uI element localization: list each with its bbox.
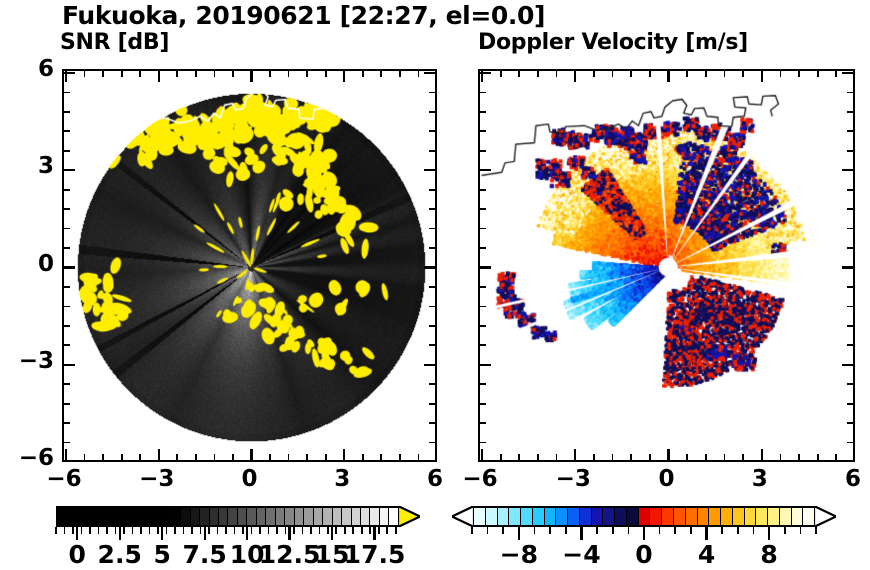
colorbar-tick-minor	[276, 527, 278, 534]
y-tick-minor	[64, 189, 70, 191]
y-tick-major	[64, 364, 75, 366]
y-tick-minor	[480, 422, 486, 424]
colorbar-cell	[266, 508, 275, 525]
y-tick-minor	[480, 247, 486, 249]
x-axis-label: 0	[637, 466, 697, 492]
x-tick-minor	[195, 454, 197, 460]
colorbar-tick-minor	[259, 527, 261, 534]
colorbar-cell	[603, 508, 615, 525]
colorbar-cell	[200, 508, 209, 525]
colorbar-cell	[58, 508, 67, 525]
x-tick-minor	[518, 71, 520, 77]
y-tick-minor	[429, 325, 435, 327]
colorbar-tick-minor	[753, 527, 755, 534]
x-tick-major	[761, 449, 763, 460]
y-tick-minor	[480, 286, 486, 288]
colorbar-cell	[191, 508, 200, 525]
x-tick-minor	[705, 71, 707, 77]
x-axis-label: 6	[823, 466, 870, 492]
y-tick-minor	[429, 306, 435, 308]
colorbar-cell	[333, 508, 342, 525]
colorbar-cell	[556, 508, 568, 525]
colorbar-tick-minor	[690, 527, 692, 534]
colorbar-tick-minor	[183, 527, 185, 534]
y-tick-minor	[847, 325, 853, 327]
y-tick-minor	[64, 208, 70, 210]
y-tick-minor	[429, 247, 435, 249]
colorbar-tick-label: −4	[562, 540, 600, 569]
colorbar-tick-minor	[268, 527, 270, 534]
colorbar-tick-minor	[549, 527, 551, 534]
colorbar-tick-minor	[140, 527, 142, 534]
colorbar-tick-minor	[327, 527, 329, 534]
x-tick-major	[667, 71, 669, 82]
y-tick-minor	[429, 130, 435, 132]
colorbar-tick-major	[204, 527, 206, 540]
y-tick-minor	[480, 306, 486, 308]
y-tick-major	[842, 461, 853, 462]
y-tick-minor	[64, 111, 70, 113]
y-tick-minor	[429, 344, 435, 346]
x-tick-minor	[325, 71, 327, 77]
x-tick-minor	[724, 454, 726, 460]
y-tick-major	[842, 169, 853, 171]
colorbar-cell	[219, 508, 228, 525]
colorbar-cell	[803, 508, 814, 525]
colorbar-tick-minor	[369, 527, 371, 534]
snr-plot-frame	[62, 69, 437, 462]
x-tick-minor	[537, 71, 539, 77]
colorbar-cell	[686, 508, 698, 525]
colorbar-tick-minor	[174, 527, 176, 534]
x-tick-minor	[121, 71, 123, 77]
y-tick-major	[480, 169, 491, 171]
y-axis-label: 3	[0, 153, 54, 179]
colorbar-tick-label: 0	[69, 540, 86, 569]
x-tick-major	[436, 71, 437, 82]
x-axis-label: 3	[730, 466, 790, 492]
x-tick-minor	[500, 454, 502, 460]
colorbar-cell	[153, 508, 162, 525]
colorbar-cell	[247, 508, 256, 525]
y-tick-minor	[480, 150, 486, 152]
x-tick-minor	[630, 454, 632, 460]
colorbar-tick-minor	[251, 527, 253, 534]
colorbar-tick-major	[705, 527, 707, 540]
x-tick-minor	[288, 71, 290, 77]
colorbar-tick-minor	[115, 527, 117, 534]
x-tick-minor	[269, 71, 271, 77]
y-tick-minor	[480, 208, 486, 210]
y-tick-minor	[847, 403, 853, 405]
colorbar-tick-major	[518, 527, 520, 540]
colorbar-cell	[370, 508, 379, 525]
colorbar-cell	[521, 508, 533, 525]
x-tick-minor	[780, 71, 782, 77]
y-tick-major	[424, 72, 435, 74]
colorbar-tick-minor	[242, 527, 244, 534]
x-axis-label: −3	[127, 466, 187, 492]
colorbar-tick-major	[246, 527, 248, 540]
y-tick-minor	[480, 228, 486, 230]
y-tick-minor	[847, 150, 853, 152]
colorbar-tick-minor	[89, 527, 91, 534]
colorbar-cell	[580, 508, 592, 525]
colorbar-tick-minor	[378, 527, 380, 534]
colorbar-tick-minor	[612, 527, 614, 534]
y-tick-major	[480, 266, 491, 268]
colorbar-cell	[285, 508, 294, 525]
y-tick-minor	[429, 383, 435, 385]
x-tick-minor	[835, 454, 837, 460]
y-tick-major	[842, 364, 853, 366]
x-tick-minor	[798, 71, 800, 77]
x-tick-major	[343, 71, 345, 82]
y-tick-major	[842, 72, 853, 74]
y-tick-minor	[429, 422, 435, 424]
colorbar-tick-minor	[208, 527, 210, 534]
y-tick-major	[842, 266, 853, 268]
colorbar-tick-minor	[674, 527, 676, 534]
colorbar-cell	[86, 508, 95, 525]
x-tick-minor	[269, 454, 271, 460]
y-tick-minor	[480, 92, 486, 94]
y-tick-minor	[429, 228, 435, 230]
y-tick-minor	[847, 189, 853, 191]
x-tick-minor	[500, 71, 502, 77]
colorbar-cell	[96, 508, 105, 525]
y-tick-major	[480, 72, 491, 74]
colorbar-tick-minor	[310, 527, 312, 534]
y-tick-minor	[847, 442, 853, 444]
colorbar-cell	[792, 508, 804, 525]
colorbar-cell	[134, 508, 143, 525]
colorbar-tick-minor	[72, 527, 74, 534]
colorbar-tick-minor	[659, 527, 661, 534]
y-tick-major	[480, 461, 491, 462]
y-tick-major	[64, 72, 75, 74]
y-tick-minor	[64, 92, 70, 94]
y-tick-major	[64, 266, 75, 268]
y-tick-minor	[429, 111, 435, 113]
colorbar-tick-label: 8	[760, 540, 777, 569]
snr-radar-image	[64, 71, 435, 460]
colorbar-tick-major	[643, 527, 645, 540]
colorbar-cell	[568, 508, 580, 525]
colorbar-tick-minor	[361, 527, 363, 534]
colorbar-cell	[276, 508, 285, 525]
x-tick-minor	[742, 71, 744, 77]
colorbar-tick-minor	[81, 527, 83, 534]
colorbar-cell	[172, 508, 181, 525]
x-tick-minor	[686, 71, 688, 77]
colorbar-tick-major	[331, 527, 333, 540]
x-tick-major	[65, 449, 67, 460]
colorbar-tick-label: −8	[500, 540, 538, 569]
doppler-radar-image	[480, 71, 853, 460]
colorbar-tick-minor	[565, 527, 567, 534]
colorbar-tick-minor	[335, 527, 337, 534]
y-tick-minor	[847, 92, 853, 94]
y-tick-minor	[64, 228, 70, 230]
y-axis-label: −3	[0, 348, 54, 374]
x-tick-minor	[537, 454, 539, 460]
colorbar-arrow-low	[452, 506, 474, 527]
colorbar-tick-major	[373, 527, 375, 540]
colorbar-cell	[67, 508, 76, 525]
y-tick-minor	[847, 247, 853, 249]
doppler-plot-frame	[478, 69, 855, 462]
colorbar-cell	[674, 508, 686, 525]
x-tick-minor	[325, 454, 327, 460]
y-tick-minor	[480, 111, 486, 113]
x-tick-major	[574, 449, 576, 460]
colorbar-tick-label: 4	[698, 540, 715, 569]
colorbar-cell	[342, 508, 351, 525]
y-tick-minor	[847, 111, 853, 113]
x-tick-minor	[362, 71, 364, 77]
colorbar-tick-minor	[352, 527, 354, 534]
x-tick-minor	[724, 71, 726, 77]
colorbar-tick-minor	[596, 527, 598, 534]
colorbar-tick-major	[119, 527, 121, 540]
colorbar-cell	[592, 508, 604, 525]
colorbar-cell	[768, 508, 780, 525]
colorbar-cell	[77, 508, 86, 525]
x-tick-major	[854, 449, 855, 460]
colorbar-cell	[533, 508, 545, 525]
colorbar-cell	[257, 508, 266, 525]
doppler-panel-title: Doppler Velocity [m/s]	[478, 30, 748, 55]
x-tick-minor	[102, 454, 104, 460]
colorbar-cell	[361, 508, 370, 525]
y-tick-minor	[429, 286, 435, 288]
y-tick-minor	[64, 344, 70, 346]
y-tick-minor	[480, 344, 486, 346]
colorbar-cell	[162, 508, 171, 525]
x-axis-label: 0	[220, 466, 280, 492]
colorbar-cell	[745, 508, 757, 525]
x-tick-minor	[817, 454, 819, 460]
colorbar-cell	[650, 508, 662, 525]
colorbar-cell	[615, 508, 627, 525]
y-tick-minor	[64, 442, 70, 444]
x-tick-major	[481, 449, 483, 460]
y-tick-minor	[64, 306, 70, 308]
y-tick-major	[424, 364, 435, 366]
colorbar-tick-minor	[487, 527, 489, 534]
x-tick-major	[436, 449, 437, 460]
colorbar-tick-minor	[98, 527, 100, 534]
x-tick-minor	[84, 454, 86, 460]
colorbar-tick-minor	[737, 527, 739, 534]
y-tick-minor	[64, 286, 70, 288]
x-tick-major	[158, 449, 160, 460]
y-tick-minor	[847, 208, 853, 210]
x-tick-major	[158, 71, 160, 82]
page-title: Fukuoka, 20190621 [22:27, el=0.0]	[62, 1, 545, 30]
x-axis-label: −3	[543, 466, 603, 492]
y-tick-minor	[429, 150, 435, 152]
x-tick-major	[343, 449, 345, 460]
x-tick-minor	[649, 454, 651, 460]
colorbar-tick-minor	[200, 527, 202, 534]
x-tick-minor	[593, 454, 595, 460]
colorbar-tick-minor	[319, 527, 321, 534]
colorbar-cell	[124, 508, 133, 525]
x-tick-minor	[139, 454, 141, 460]
y-tick-minor	[480, 189, 486, 191]
y-tick-minor	[64, 325, 70, 327]
y-tick-major	[424, 461, 435, 462]
colorbar-tick-label: 2.5	[98, 540, 142, 569]
x-tick-minor	[195, 71, 197, 77]
colorbar-cell	[389, 508, 397, 525]
colorbar-tick-minor	[149, 527, 151, 534]
colorbar-tick-minor	[106, 527, 108, 534]
y-tick-minor	[64, 150, 70, 152]
y-tick-major	[424, 266, 435, 268]
x-tick-minor	[798, 454, 800, 460]
colorbar-tick-label: 7.5	[182, 540, 226, 569]
x-tick-minor	[593, 71, 595, 77]
doppler-colorbar: −8−4048	[472, 506, 816, 570]
colorbar-tick-minor	[234, 527, 236, 534]
colorbar-cell	[733, 508, 745, 525]
y-tick-minor	[480, 442, 486, 444]
colorbar-cell	[756, 508, 768, 525]
colorbar-tick-minor	[502, 527, 504, 534]
y-tick-minor	[480, 130, 486, 132]
colorbar-tick-label: 0	[635, 540, 652, 569]
colorbar-cell	[228, 508, 237, 525]
colorbar-tick-minor	[217, 527, 219, 534]
colorbar-cell	[780, 508, 792, 525]
colorbar-tick-minor	[395, 527, 397, 534]
y-tick-minor	[64, 422, 70, 424]
colorbar-tick-minor	[293, 527, 295, 534]
colorbar-cell	[304, 508, 313, 525]
x-tick-minor	[139, 71, 141, 77]
x-tick-minor	[380, 454, 382, 460]
x-tick-major	[250, 71, 252, 82]
colorbar-tick-minor	[815, 527, 817, 534]
y-tick-minor	[847, 383, 853, 385]
x-tick-minor	[835, 71, 837, 77]
snr-colorbar: 02.557.51012.51517.5	[56, 506, 400, 570]
y-tick-minor	[429, 442, 435, 444]
colorbar-cell	[709, 508, 721, 525]
colorbar-cell	[380, 508, 389, 525]
y-tick-major	[480, 364, 491, 366]
x-tick-minor	[399, 71, 401, 77]
x-tick-minor	[418, 71, 420, 77]
x-tick-minor	[418, 454, 420, 460]
x-tick-minor	[176, 71, 178, 77]
y-tick-minor	[847, 228, 853, 230]
colorbar-cell	[323, 508, 332, 525]
colorbar-tick-minor	[534, 527, 536, 534]
colorbar-cell	[143, 508, 152, 525]
colorbar-cell	[210, 508, 219, 525]
x-tick-minor	[380, 71, 382, 77]
y-tick-minor	[429, 208, 435, 210]
colorbar-cell	[721, 508, 733, 525]
x-tick-minor	[399, 454, 401, 460]
x-tick-minor	[556, 71, 558, 77]
y-tick-minor	[480, 383, 486, 385]
x-tick-minor	[214, 71, 216, 77]
x-tick-major	[667, 449, 669, 460]
colorbar-tick-minor	[191, 527, 193, 534]
colorbar-tick-major	[768, 527, 770, 540]
y-tick-minor	[847, 306, 853, 308]
colorbar-cell	[314, 508, 323, 525]
x-tick-major	[854, 71, 855, 82]
x-tick-minor	[84, 71, 86, 77]
x-tick-minor	[630, 71, 632, 77]
colorbar-tick-major	[161, 527, 163, 540]
y-tick-minor	[429, 92, 435, 94]
colorbar-tick-minor	[471, 527, 473, 534]
colorbar-cell	[662, 508, 674, 525]
colorbar-tick-label: 12.5	[259, 540, 321, 569]
colorbar-tick-minor	[64, 527, 66, 534]
y-tick-major	[64, 461, 75, 462]
x-tick-minor	[121, 454, 123, 460]
colorbar-tick-minor	[285, 527, 287, 534]
x-tick-minor	[705, 454, 707, 460]
x-tick-minor	[102, 71, 104, 77]
x-tick-minor	[817, 71, 819, 77]
y-tick-minor	[429, 189, 435, 191]
colorbar-tick-minor	[302, 527, 304, 534]
x-tick-minor	[288, 454, 290, 460]
y-axis-label: 6	[0, 56, 54, 82]
y-tick-minor	[429, 403, 435, 405]
x-tick-minor	[306, 71, 308, 77]
y-tick-minor	[847, 344, 853, 346]
colorbar-cell	[639, 508, 651, 525]
colorbar-tick-minor	[628, 527, 630, 534]
x-tick-minor	[176, 454, 178, 460]
colorbar-arrow-high	[398, 506, 420, 527]
x-tick-major	[574, 71, 576, 82]
x-tick-minor	[306, 454, 308, 460]
x-tick-minor	[612, 454, 614, 460]
x-axis-label: −6	[450, 466, 510, 492]
colorbar-cell	[627, 508, 639, 525]
x-tick-minor	[780, 454, 782, 460]
x-tick-major	[250, 449, 252, 460]
colorbar-tick-label: 17.5	[344, 540, 406, 569]
colorbar-tick-major	[76, 527, 78, 540]
y-tick-minor	[847, 130, 853, 132]
colorbar-tick-minor	[800, 527, 802, 534]
colorbar-tick-minor	[123, 527, 125, 534]
colorbar-cell	[352, 508, 361, 525]
colorbar-tick-minor	[721, 527, 723, 534]
colorbar-tick-minor	[166, 527, 168, 534]
colorbar-arrow-high	[814, 506, 836, 527]
colorbar-tick-minor	[784, 527, 786, 534]
colorbar-cell	[486, 508, 498, 525]
colorbar-tick-minor	[225, 527, 227, 534]
colorbar-tick-major	[288, 527, 290, 540]
y-tick-minor	[480, 403, 486, 405]
y-tick-minor	[64, 383, 70, 385]
y-tick-minor	[480, 325, 486, 327]
